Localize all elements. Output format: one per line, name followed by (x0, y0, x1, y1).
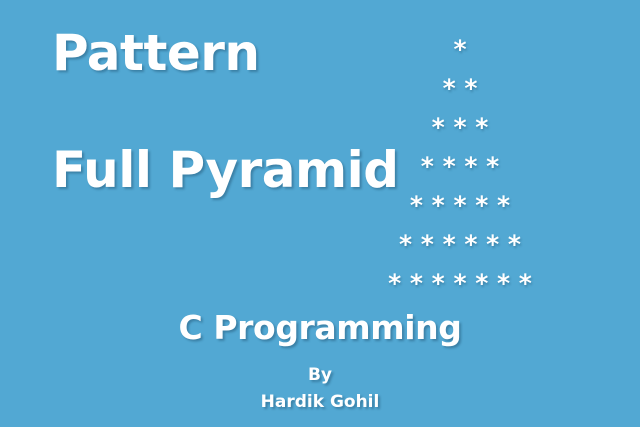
star-pyramid: * * * * * * * * * * * * * * * * * * * * … (330, 30, 590, 303)
pyramid-row: * * * (330, 108, 590, 147)
pyramid-row: * (330, 30, 590, 69)
slide-canvas: Pattern Full Pyramid * * * * * * * * * *… (0, 0, 640, 427)
caption-author-name: Hardik Gohil (0, 393, 640, 412)
pyramid-row: * * * * * * (330, 225, 590, 264)
pyramid-row: * * * * (330, 147, 590, 186)
pyramid-row: * * (330, 69, 590, 108)
caption-subject: C Programming (0, 311, 640, 346)
caption-by-label: By (0, 366, 640, 385)
pyramid-row: * * * * * * * (330, 264, 590, 303)
heading-pattern: Pattern (52, 28, 260, 78)
pyramid-row: * * * * * (330, 186, 590, 225)
